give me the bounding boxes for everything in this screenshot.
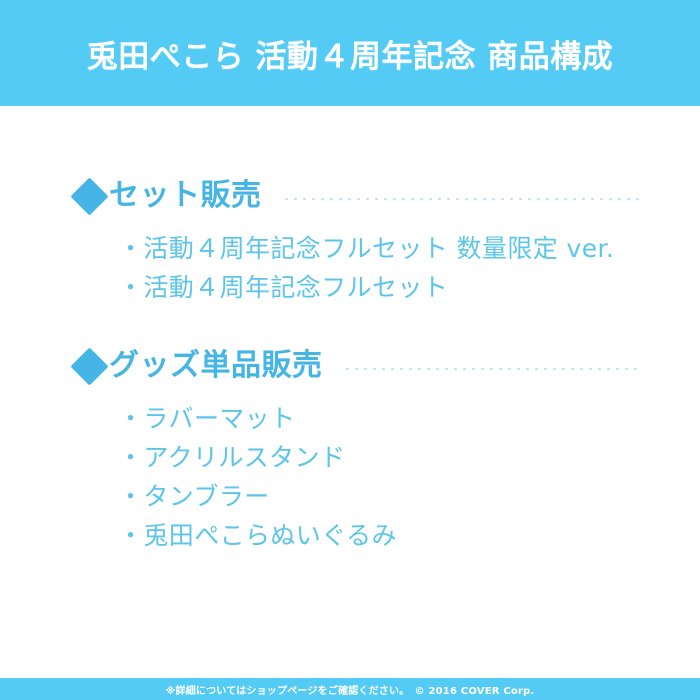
diamond-icon	[70, 347, 108, 385]
section-goods-tanpin-hanbai: グッズ単品販売 ・ラバーマット ・アクリルスタンド ・タンブラー ・兎田ぺこらぬ…	[0, 344, 700, 555]
dotted-rule	[343, 366, 644, 370]
footer-note-and-copyright: ※詳細についてはショップページをご確認ください。 © 2016 COVER Co…	[166, 682, 535, 697]
list-item: ・兎田ぺこらぬいぐるみ	[0, 516, 700, 555]
diamond-icon	[70, 177, 108, 215]
goods-item-list: ・ラバーマット ・アクリルスタンド ・タンブラー ・兎田ぺこらぬいぐるみ	[0, 399, 700, 555]
section-set-hanbai: セット販売 ・活動４周年記念フルセット 数量限定 ver. ・活動４周年記念フル…	[0, 174, 700, 307]
list-item: ・活動４周年記念フルセット	[0, 268, 700, 307]
header-band: 兎田ぺこら 活動４周年記念 商品構成	[0, 0, 700, 106]
list-item: ・活動４周年記念フルセット 数量限定 ver.	[0, 229, 700, 268]
list-item: ・ラバーマット	[0, 399, 700, 438]
section-title-goods-tanpin-hanbai: グッズ単品販売	[109, 351, 323, 381]
set-item-list: ・活動４周年記念フルセット 数量限定 ver. ・活動４周年記念フルセット	[0, 229, 700, 307]
list-item: ・アクリルスタンド	[0, 438, 700, 477]
page-title: 兎田ぺこら 活動４周年記念 商品構成	[0, 0, 700, 106]
section-title-set-hanbai: セット販売	[109, 181, 262, 211]
dotted-rule	[282, 196, 644, 200]
section-header: グッズ単品販売	[0, 344, 700, 388]
list-item: ・タンブラー	[0, 477, 700, 516]
section-header: セット販売	[0, 174, 700, 218]
footer-band: ※詳細についてはショップページをご確認ください。 © 2016 COVER Co…	[0, 678, 700, 700]
content-area: セット販売 ・活動４周年記念フルセット 数量限定 ver. ・活動４周年記念フル…	[0, 106, 700, 678]
